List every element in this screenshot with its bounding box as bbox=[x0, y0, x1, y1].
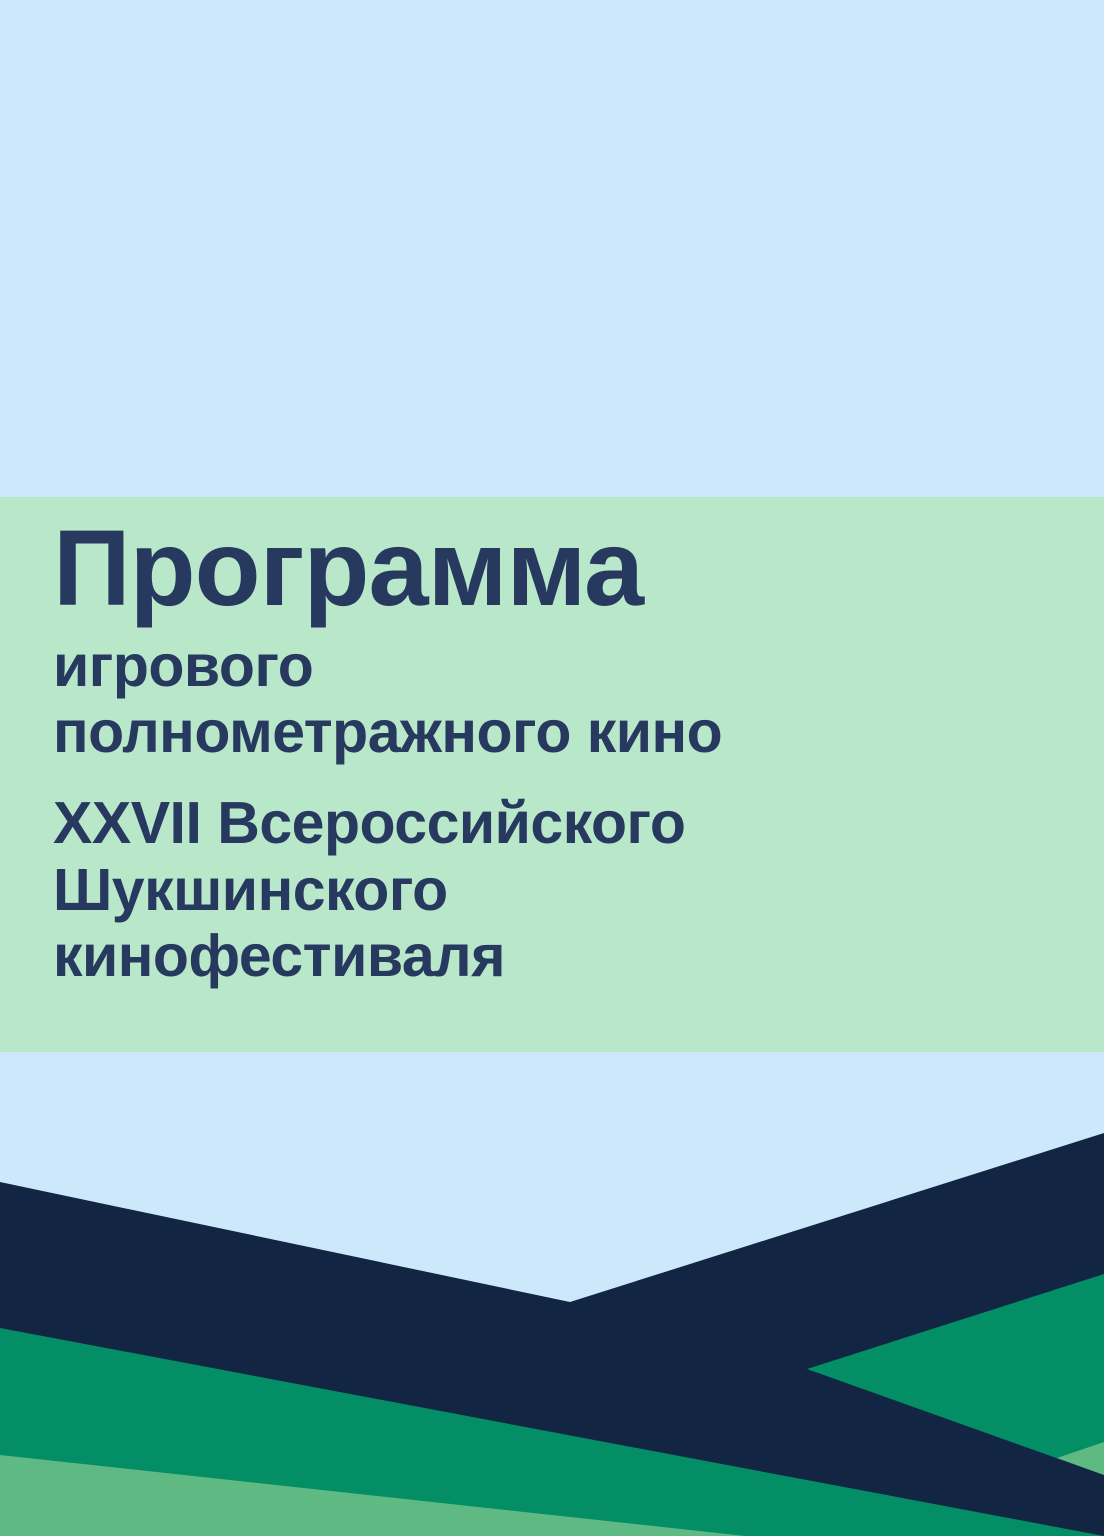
title-subtitle-line-1: игрового bbox=[53, 633, 1064, 700]
title-block: Программа игрового полнометражного кино … bbox=[0, 497, 1104, 1052]
title-festival-line-1: XXVII Всероссийского bbox=[53, 790, 1064, 857]
chevron-mountains-graphic bbox=[0, 1052, 1104, 1536]
title-subtitle-line-2: полнометражного кино bbox=[53, 699, 1064, 766]
title-festival-line-2: Шукшинского bbox=[53, 857, 1064, 924]
background-band-sky-top bbox=[0, 0, 1104, 497]
page-title: Программа bbox=[53, 510, 1064, 627]
title-festival-line-3: кинофестиваля bbox=[53, 923, 1064, 990]
title-subtitle: игрового полнометражного кино bbox=[53, 627, 1064, 766]
title-festival-name: XXVII Всероссийского Шукшинского кинофес… bbox=[53, 766, 1064, 990]
poster-canvas: Программа игрового полнометражного кино … bbox=[0, 0, 1104, 1536]
